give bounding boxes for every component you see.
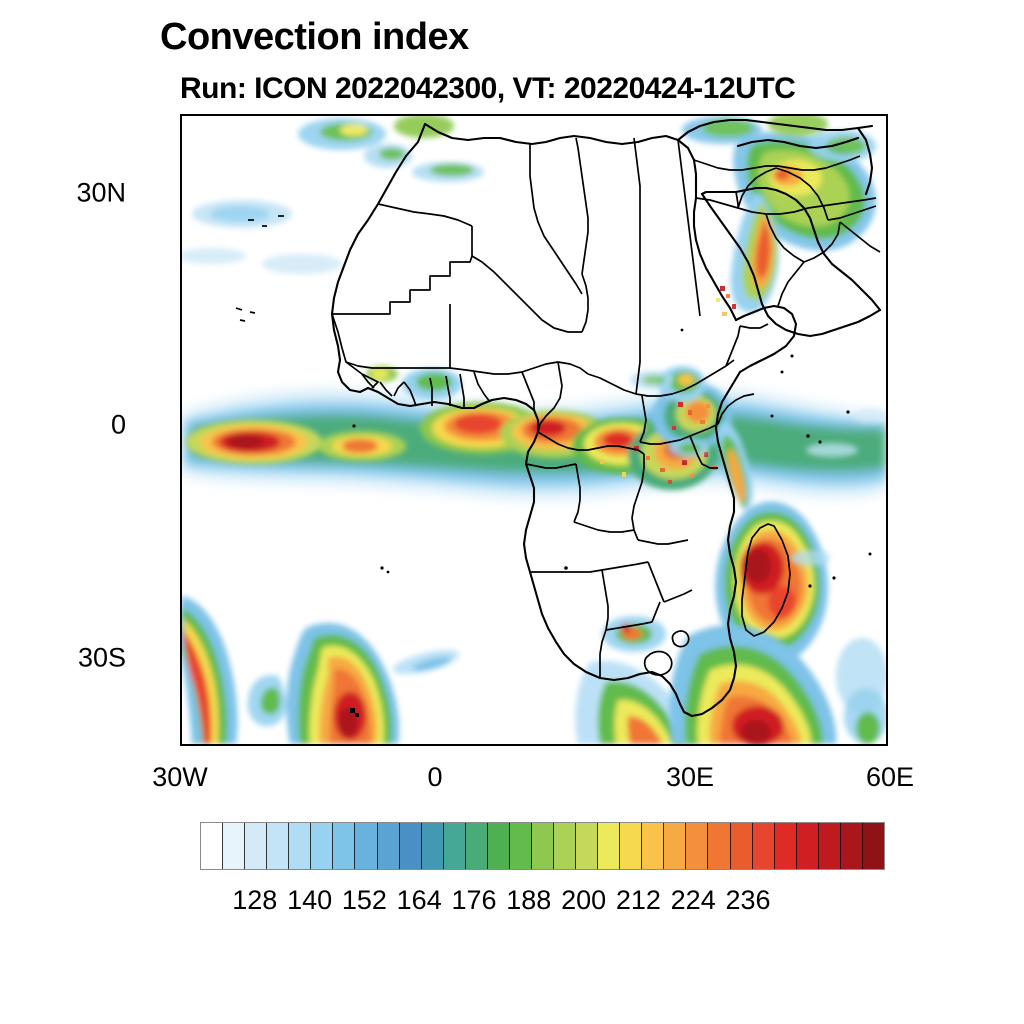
colorbar-label-140: 140 <box>287 885 332 916</box>
colorbar-label-176: 176 <box>451 885 496 916</box>
colorbar-cell-18 <box>598 823 620 869</box>
y-axis-label-30S: 30S <box>6 643 126 674</box>
colorbar-cell-20 <box>642 823 664 869</box>
colorbar-cell-22 <box>686 823 708 869</box>
colorbar-cell-23 <box>708 823 730 869</box>
page-title: Convection index <box>160 16 469 59</box>
colorbar-cell-4 <box>289 823 311 869</box>
colorbar-label-200: 200 <box>561 885 606 916</box>
x-tick-top-30E <box>653 114 655 116</box>
y-tick-right-0 <box>886 425 888 427</box>
x-axis-label-0: 0 <box>427 762 442 793</box>
y-tick-30S <box>180 657 182 659</box>
colorbar-cell-6 <box>333 823 355 869</box>
colorbar-cell-10 <box>422 823 444 869</box>
colorbar-label-128: 128 <box>232 885 277 916</box>
colorbar-label-236: 236 <box>725 885 770 916</box>
colorbar-cell-21 <box>664 823 686 869</box>
colorbar-cell-15 <box>532 823 554 869</box>
x-tick-top-0 <box>417 114 419 116</box>
colorbar-cell-26 <box>775 823 797 869</box>
colorbar-label-152: 152 <box>342 885 387 916</box>
x-tick-top-60E <box>886 114 888 116</box>
colorbar-cell-29 <box>841 823 863 869</box>
colorbar-cell-8 <box>378 823 400 869</box>
figure-canvas: Convection index Run: ICON 2022042300, V… <box>0 0 1024 1024</box>
x-axis-label-30E: 30E <box>666 762 714 793</box>
colorbar-cell-11 <box>444 823 466 869</box>
colorbar-cell-25 <box>753 823 775 869</box>
colorbar-cell-3 <box>267 823 289 869</box>
colorbar-cell-5 <box>311 823 333 869</box>
colorbar-cell-1 <box>223 823 245 869</box>
y-axis-label-30N: 30N <box>6 178 126 209</box>
colorbar-cell-16 <box>554 823 576 869</box>
x-axis-label-30W: 30W <box>152 762 208 793</box>
y-tick-right-30N <box>886 193 888 195</box>
colorbar-cell-24 <box>731 823 753 869</box>
y-tick-30N <box>180 193 182 195</box>
colorbar-cell-12 <box>466 823 488 869</box>
x-tick-top-30W <box>182 114 184 116</box>
y-axis-label-0: 0 <box>6 410 126 441</box>
colorbar-cell-30 <box>863 823 884 869</box>
colorbar-cell-14 <box>510 823 532 869</box>
x-tick-30W <box>182 744 184 746</box>
colorbar-cell-13 <box>488 823 510 869</box>
colorbar-label-224: 224 <box>671 885 716 916</box>
colorbar-cell-19 <box>620 823 642 869</box>
colorbar-label-212: 212 <box>616 885 661 916</box>
y-tick-right-30S <box>886 657 888 659</box>
colorbar-cell-28 <box>819 823 841 869</box>
run-valid-time-subtitle: Run: ICON 2022042300, VT: 20220424-12UTC <box>180 72 795 106</box>
colorbar-label-164: 164 <box>397 885 442 916</box>
colorbar-label-188: 188 <box>506 885 551 916</box>
convection-index-map <box>182 116 886 744</box>
y-tick-0 <box>180 425 182 427</box>
colorbar-cell-27 <box>797 823 819 869</box>
colorbar-cell-17 <box>576 823 598 869</box>
colorbar-cell-2 <box>245 823 267 869</box>
x-axis-label-60E: 60E <box>866 762 914 793</box>
x-tick-30E <box>653 744 655 746</box>
x-tick-60E <box>886 744 888 746</box>
map-plot-area[interactable] <box>180 114 888 746</box>
colorbar-cell-9 <box>400 823 422 869</box>
colorbar-cell-0 <box>201 823 223 869</box>
colorbar[interactable] <box>200 822 885 870</box>
x-tick-0 <box>417 744 419 746</box>
colorbar-cell-7 <box>355 823 377 869</box>
